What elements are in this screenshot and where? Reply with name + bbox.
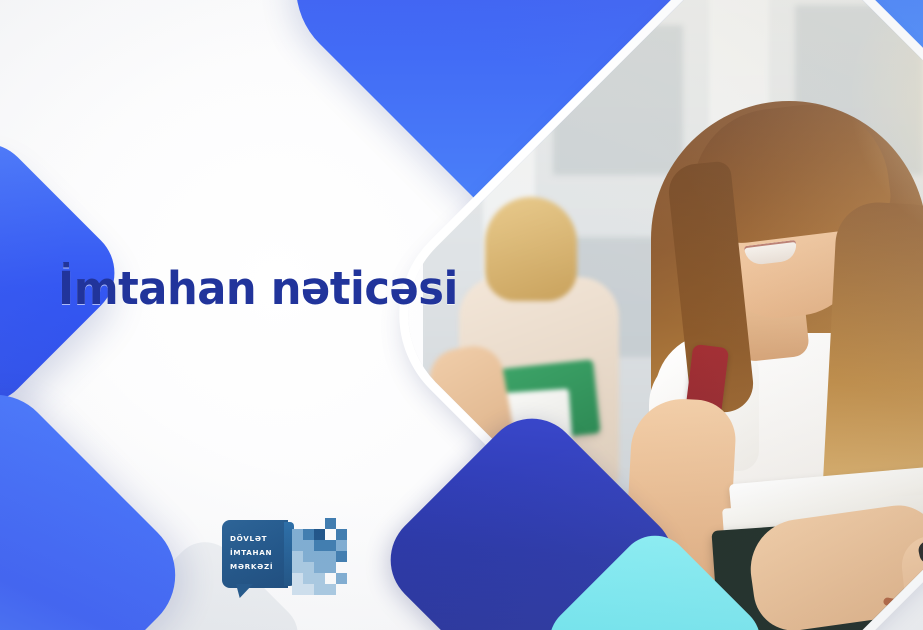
speech-bubble-tail-icon (236, 584, 253, 598)
mosaic-pixel (336, 573, 347, 584)
banner-canvas: İmtahan nəticəsi DÖVLƏT İMTAHAN MƏRKƏZİ (0, 0, 923, 630)
mosaic-pixel (336, 540, 347, 551)
mosaic-pixel (314, 573, 325, 584)
mosaic-pixel (303, 573, 314, 584)
mosaic-pixel (314, 562, 325, 573)
diamond-left-bottom-shape (0, 370, 200, 630)
logo[interactable]: DÖVLƏT İMTAHAN MƏRKƏZİ (222, 518, 352, 596)
mosaic-pixel (325, 518, 336, 529)
mosaic-pixel (314, 584, 325, 595)
mosaic-pixel (292, 551, 303, 562)
mosaic-pixel (292, 529, 303, 540)
mosaic-pixel (292, 573, 303, 584)
mosaic-pixel (336, 551, 347, 562)
logo-line-2: İMTAHAN (230, 546, 286, 560)
mosaic-pixel (314, 529, 325, 540)
mosaic-pixel (303, 529, 314, 540)
mosaic-pixel (325, 584, 336, 595)
mosaic-pixel (325, 551, 336, 562)
mosaic-pixel (303, 562, 314, 573)
logo-line-1: DÖVLƏT (230, 532, 286, 546)
mosaic-pixel (314, 540, 325, 551)
page-title: İmtahan nəticəsi (58, 262, 458, 315)
mosaic-pixel (325, 540, 336, 551)
logo-text: DÖVLƏT İMTAHAN MƏRKƏZİ (230, 532, 286, 574)
logo-line-3: MƏRKƏZİ (230, 560, 286, 574)
pixel-mosaic-icon (292, 518, 354, 596)
mosaic-pixel (325, 562, 336, 573)
mosaic-pixel (303, 540, 314, 551)
mosaic-pixel (336, 529, 347, 540)
mosaic-pixel (303, 584, 314, 595)
mosaic-pixel (292, 584, 303, 595)
mosaic-pixel (292, 562, 303, 573)
mosaic-pixel (303, 551, 314, 562)
mosaic-pixel (292, 540, 303, 551)
mosaic-pixel (314, 551, 325, 562)
